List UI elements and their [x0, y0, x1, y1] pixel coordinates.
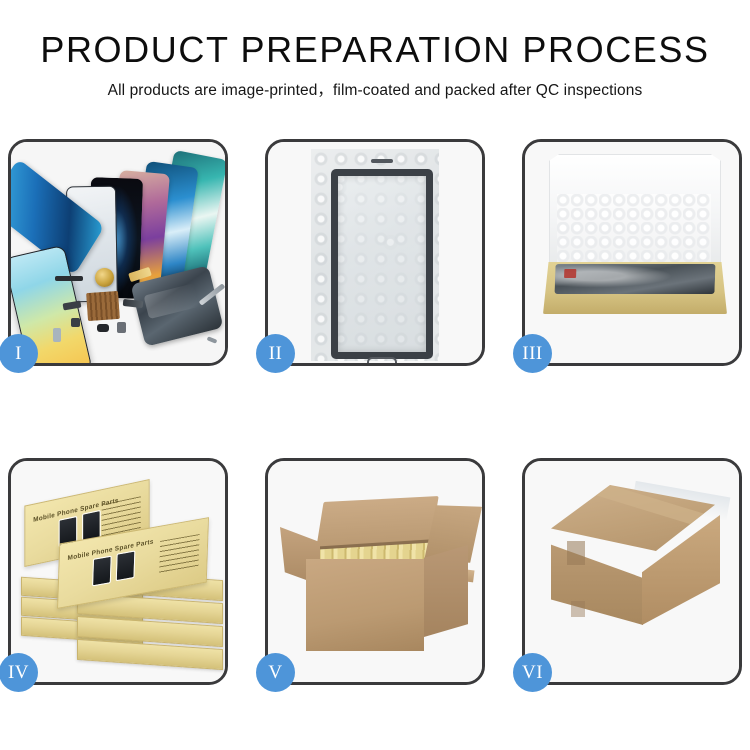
- foam-padding: [557, 194, 711, 266]
- step-badge-3: III: [513, 334, 552, 373]
- home-button-outline: [367, 357, 397, 363]
- page-subtitle: All products are image-printed，film-coat…: [0, 78, 750, 100]
- step-badge-4: IV: [0, 653, 38, 692]
- small-part-3: [97, 324, 109, 332]
- step-panel-2: II: [265, 139, 485, 366]
- earpiece-bar-part: [55, 276, 83, 281]
- step-photo-4: Mobile Phone Spare Parts Mobile Phone Sp…: [11, 461, 225, 682]
- carton-label-tab-1: [567, 541, 585, 565]
- carton-front-face: [306, 559, 424, 651]
- step-panel-3: III: [522, 139, 742, 366]
- step-photo-6: [525, 461, 739, 682]
- page-title: PRODUCT PREPARATION PROCESS: [0, 31, 750, 69]
- page-header: PRODUCT PREPARATION PROCESS All products…: [0, 0, 750, 100]
- box-artwork-phone-3: [92, 556, 112, 587]
- box-artwork-phone-4: [116, 550, 136, 581]
- step-panel-5: V: [265, 458, 485, 685]
- step-photo-5: [268, 461, 482, 682]
- small-part-5: [53, 328, 61, 342]
- open-shipping-carton-photo: [278, 475, 478, 661]
- stacked-retail-boxes-photo: Mobile Phone Spare Parts Mobile Phone Sp…: [19, 469, 223, 669]
- carton-label-tab-2: [571, 601, 585, 617]
- small-part-4: [117, 322, 126, 333]
- step-badge-2: II: [256, 334, 295, 373]
- step-panel-1: I: [8, 139, 228, 366]
- earpiece-slot: [371, 159, 393, 163]
- copper-grid-part: [86, 291, 120, 321]
- process-steps-grid: I II III: [8, 139, 742, 685]
- wrapped-screen-in-box: [554, 264, 715, 294]
- speaker-coil-part: [95, 268, 114, 287]
- bubble-wrapped-screen-photo: [311, 149, 439, 361]
- step-photo-2: [268, 142, 482, 363]
- step-panel-6: VI: [522, 458, 742, 685]
- step-photo-3: [525, 142, 739, 363]
- phone-screen-under-wrap: [331, 169, 433, 359]
- sealed-shipping-carton-photo: [537, 479, 733, 659]
- phone-screens-and-parts-photo: [11, 142, 225, 363]
- small-part-7: [207, 336, 218, 343]
- box-spec-lines-lower: [159, 534, 200, 576]
- step-panel-4: Mobile Phone Spare Parts Mobile Phone Sp…: [8, 458, 228, 685]
- small-part-6: [123, 299, 144, 308]
- step-badge-5: V: [256, 653, 295, 692]
- step-badge-1: I: [0, 334, 38, 373]
- carton-side-face: [424, 545, 468, 637]
- step-badge-6: VI: [513, 653, 552, 692]
- step-photo-1: [11, 142, 225, 363]
- screen-in-foam-box-photo: [543, 150, 727, 330]
- small-part-2: [71, 318, 80, 327]
